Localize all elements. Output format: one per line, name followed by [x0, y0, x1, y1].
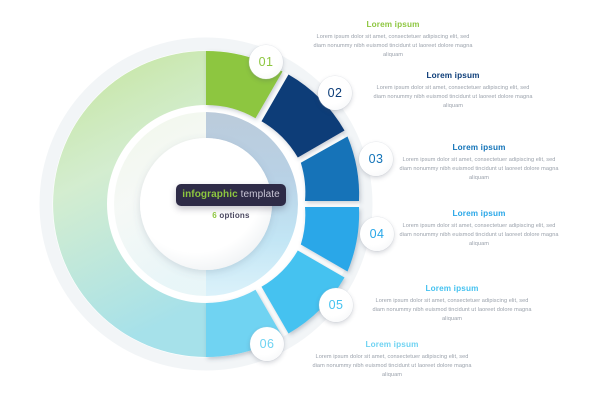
option-05-heading: Lorem ipsum: [372, 284, 532, 293]
center-title-strong: infographic: [182, 189, 238, 200]
option-01-heading: Lorem ipsum: [313, 20, 473, 29]
option-block-06: Lorem ipsum Lorem ipsum dolor sit amet, …: [312, 340, 472, 380]
marker-04[interactable]: 04: [360, 217, 394, 251]
option-02-text: Lorem ipsum dolor sit amet, consectetuer…: [373, 84, 533, 111]
option-block-05: Lorem ipsum Lorem ipsum dolor sit amet, …: [372, 284, 532, 324]
marker-01-label: 01: [259, 55, 274, 69]
option-02-heading: Lorem ipsum: [373, 71, 533, 80]
option-03-heading: Lorem ipsum: [399, 143, 559, 152]
marker-01[interactable]: 01: [249, 45, 283, 79]
marker-05[interactable]: 05: [319, 288, 353, 322]
center-subtitle-number: 6: [212, 211, 217, 220]
marker-05-label: 05: [329, 298, 344, 312]
option-01-text: Lorem ipsum dolor sit amet, consectetuer…: [313, 33, 473, 60]
center-subtitle: 6 options: [176, 211, 286, 220]
marker-06[interactable]: 06: [250, 327, 284, 361]
option-04-text: Lorem ipsum dolor sit amet, consectetuer…: [399, 222, 559, 249]
marker-06-label: 06: [260, 337, 275, 351]
donut-chart: [0, 0, 612, 408]
option-06-text: Lorem ipsum dolor sit amet, consectetuer…: [312, 353, 472, 380]
option-block-04: Lorem ipsum Lorem ipsum dolor sit amet, …: [399, 209, 559, 249]
option-block-01: Lorem ipsum Lorem ipsum dolor sit amet, …: [313, 20, 473, 60]
marker-03-label: 03: [369, 152, 384, 166]
center-badge: infographic template 6 options: [176, 184, 286, 220]
marker-02[interactable]: 02: [318, 76, 352, 110]
infographic-canvas: infographic template 6 options 01 02 03 …: [0, 0, 612, 408]
center-title-pill: infographic template: [176, 184, 286, 206]
option-06-heading: Lorem ipsum: [312, 340, 472, 349]
marker-03[interactable]: 03: [359, 142, 393, 176]
option-03-text: Lorem ipsum dolor sit amet, consectetuer…: [399, 156, 559, 183]
option-04-heading: Lorem ipsum: [399, 209, 559, 218]
marker-04-label: 04: [370, 227, 385, 241]
option-block-03: Lorem ipsum Lorem ipsum dolor sit amet, …: [399, 143, 559, 183]
option-05-text: Lorem ipsum dolor sit amet, consectetuer…: [372, 297, 532, 324]
center-title-light: template: [241, 189, 280, 200]
option-block-02: Lorem ipsum Lorem ipsum dolor sit amet, …: [373, 71, 533, 111]
center-subtitle-text: options: [219, 211, 249, 220]
marker-02-label: 02: [328, 86, 343, 100]
